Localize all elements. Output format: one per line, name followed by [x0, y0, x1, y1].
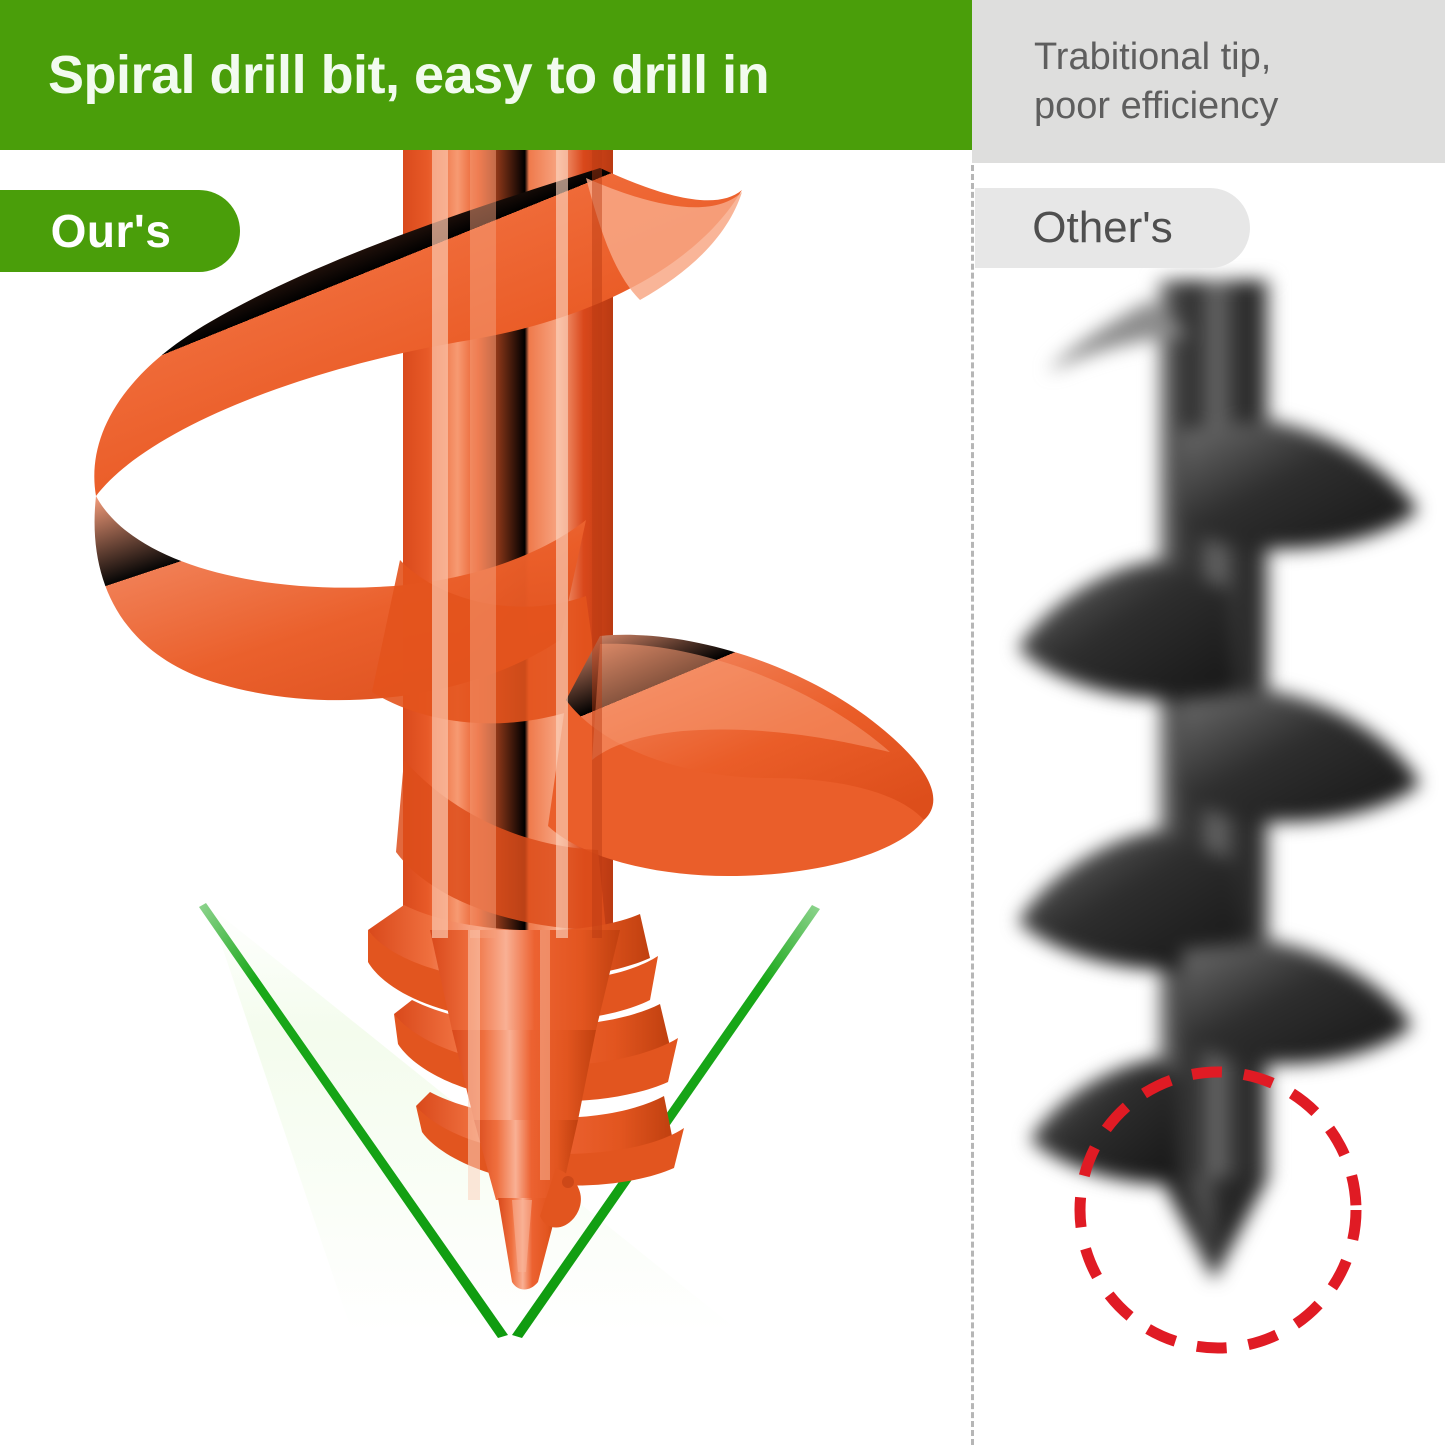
panel-divider [971, 165, 974, 1445]
ours-badge-label: Our's [51, 204, 172, 258]
green-taper-cone [199, 903, 820, 1338]
right-header-line-2: poor efficiency [1034, 82, 1445, 131]
others-badge: Other's [975, 188, 1250, 268]
others-badge-label: Other's [1032, 203, 1172, 253]
right-header-line-1: Trabitional tip, [1034, 33, 1445, 82]
ours-badge: Our's [0, 190, 240, 272]
right-panel-header: Trabitional tip, poor efficiency [972, 0, 1445, 163]
left-header-text: Spiral drill bit, easy to drill in [48, 47, 769, 104]
comparison-infographic: Spiral drill bit, easy to drill in Trabi… [0, 0, 1445, 1445]
left-panel-header: Spiral drill bit, easy to drill in [0, 0, 972, 150]
